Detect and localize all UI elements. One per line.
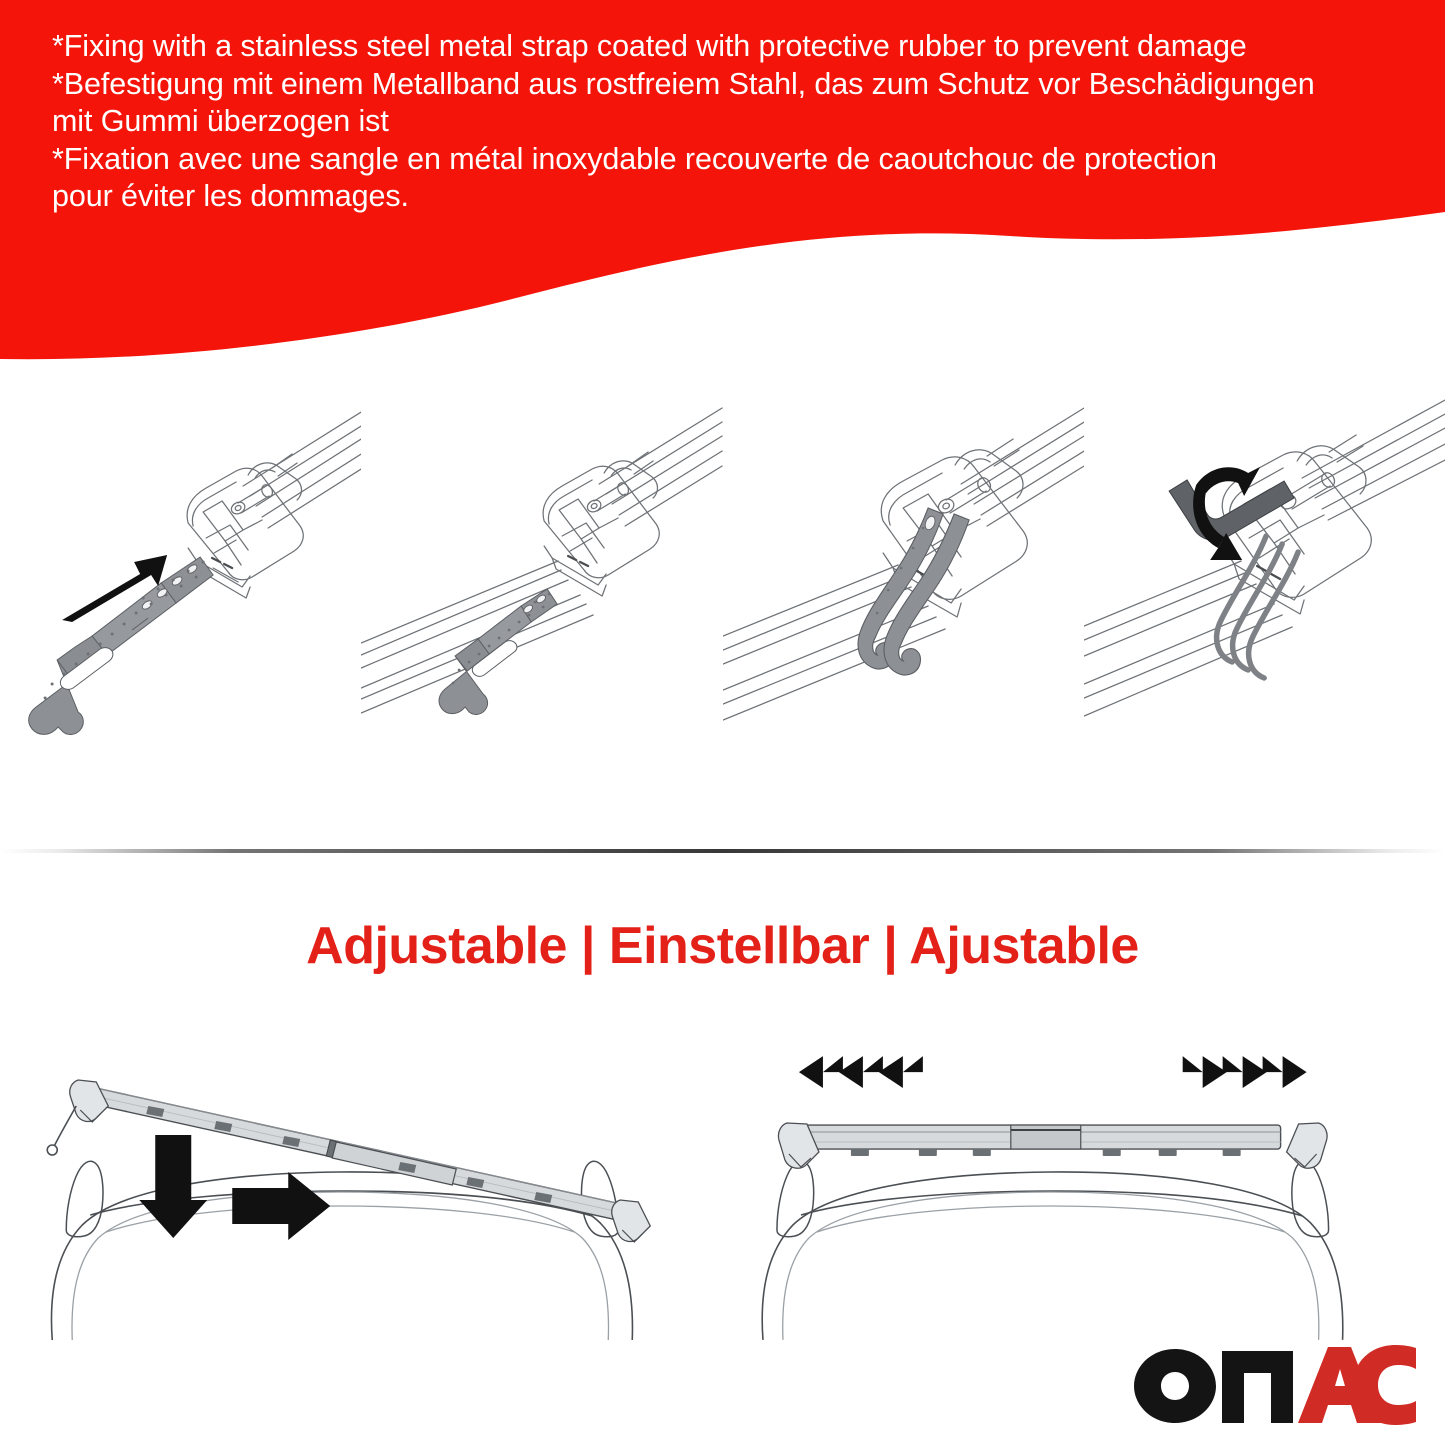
strap-below-rail-diagram <box>361 368 722 838</box>
adjustable-diagrams <box>0 1010 1445 1340</box>
allen-key-tighten-diagram <box>1084 368 1445 838</box>
section-divider <box>0 849 1445 853</box>
install-step-4 <box>1084 368 1445 838</box>
strap-insert-diagram <box>0 368 361 838</box>
header-banner: *Fixing with a stainless steel metal str… <box>0 0 1445 380</box>
install-step-1 <box>0 368 361 838</box>
logo-letter-o <box>1134 1349 1216 1423</box>
arrows-triple-left <box>798 1056 922 1088</box>
strap-wrapped-rail-diagram <box>723 368 1084 838</box>
header-description-text: *Fixing with a stainless steel metal str… <box>52 28 1422 216</box>
crossbar <box>47 1080 650 1242</box>
logo-letter-m <box>1222 1351 1293 1423</box>
allen-key <box>1169 480 1294 540</box>
install-step-2 <box>361 368 722 838</box>
installation-steps <box>0 368 1445 838</box>
crossbar <box>778 1123 1327 1168</box>
metal-strap <box>439 589 557 714</box>
crossbar-place-on-roof <box>0 1010 723 1340</box>
diagram-place-crossbar <box>0 1010 723 1340</box>
metal-strap <box>29 557 213 734</box>
arrow-down <box>139 1135 207 1238</box>
install-step-3 <box>723 368 1084 838</box>
arrows-triple-right <box>1182 1056 1306 1088</box>
metal-strap-wrapped <box>858 508 969 675</box>
adjustable-heading: Adjustable | Einstellbar | Ajustable <box>0 916 1445 976</box>
arrow-right <box>232 1172 330 1240</box>
omac-logo-mark <box>1130 1341 1420 1427</box>
omac-logo <box>1130 1341 1420 1427</box>
crossbar-width-adjust <box>723 1010 1445 1340</box>
product-info-graphic: *Fixing with a stainless steel metal str… <box>0 0 1445 1445</box>
diagram-adjust-width <box>723 1010 1445 1340</box>
